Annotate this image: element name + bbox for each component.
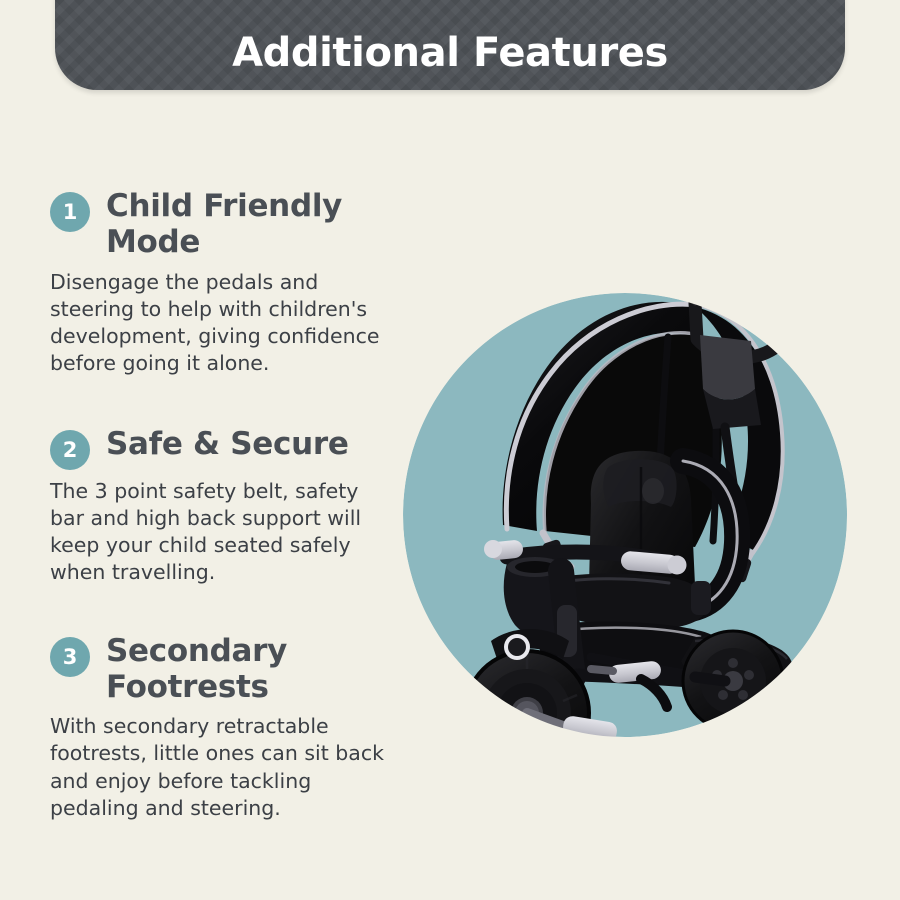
feature-2-number-badge: 2 xyxy=(50,430,90,470)
front-badge xyxy=(504,634,530,660)
feature-3-description: With secondary retractable footrests, li… xyxy=(50,713,395,822)
feature-3-number-badge: 3 xyxy=(50,637,90,677)
tricycle-product-illustration xyxy=(395,285,865,755)
feature-item-2: 2 Safe & Secure The 3 point safety belt,… xyxy=(50,426,410,587)
feature-3-title: Secondary Footrests xyxy=(106,633,410,706)
feature-1-number-badge: 1 xyxy=(50,192,90,232)
feature-3-header: 3 Secondary Footrests xyxy=(50,633,410,706)
feature-1-title: Child Friendly Mode xyxy=(106,188,410,261)
features-list: 1 Child Friendly Mode Disengage the peda… xyxy=(50,188,410,844)
feature-1-description: Disengage the pedals and steering to hel… xyxy=(50,269,395,378)
page-title: Additional Features xyxy=(232,30,668,90)
feature-item-3: 3 Secondary Footrests With secondary ret… xyxy=(50,633,410,823)
feature-1-header: 1 Child Friendly Mode xyxy=(50,188,410,261)
header-banner: Additional Features xyxy=(55,0,845,90)
product-image-stage xyxy=(395,285,865,755)
rear-axle xyxy=(695,677,725,681)
feature-item-1: 1 Child Friendly Mode Disengage the peda… xyxy=(50,188,410,378)
feature-2-title: Safe & Secure xyxy=(106,426,349,462)
feature-2-description: The 3 point safety belt, safety bar and … xyxy=(50,478,395,587)
feature-2-header: 2 Safe & Secure xyxy=(50,426,410,470)
